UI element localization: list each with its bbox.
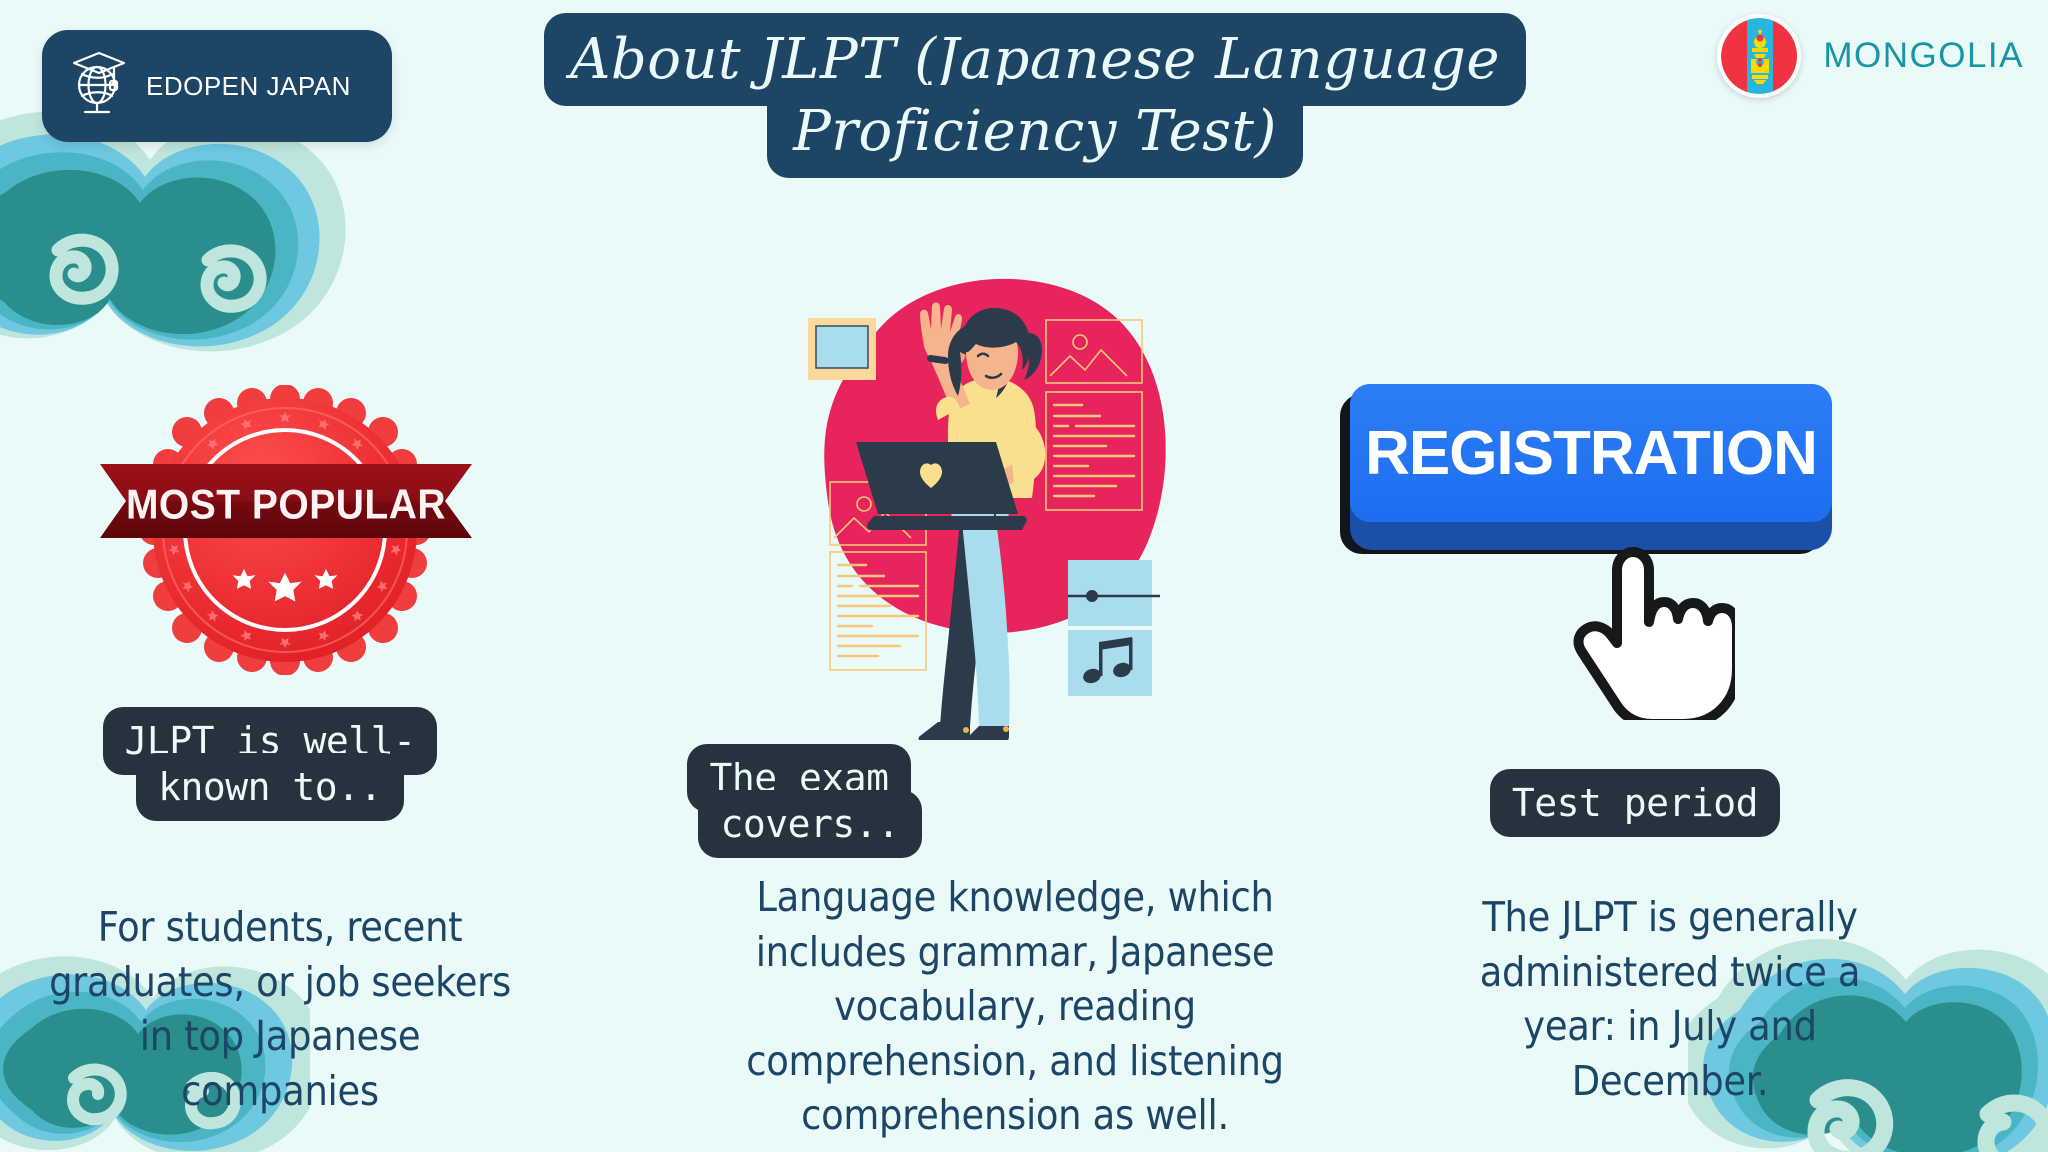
country-indicator: MONGOLIA — [1717, 14, 2024, 98]
middle-label-badge: The exam covers.. — [600, 755, 1020, 848]
country-name: MONGOLIA — [1823, 36, 2024, 76]
wave-decoration-top-left — [0, 110, 360, 414]
registration-button-label: REGISTRATION — [1365, 418, 1817, 489]
mongolia-flag-icon — [1717, 14, 1801, 98]
woman-with-laptop-illustration — [800, 260, 1180, 740]
left-label-badge: JLPT is well-known to.. — [60, 718, 480, 811]
brand-name: EDOPEN JAPAN — [146, 71, 351, 102]
pointing-hand-cursor — [1555, 500, 1735, 724]
middle-label-text: The exam covers.. — [687, 744, 921, 858]
graduation-globe-icon — [68, 49, 130, 123]
brand-logo-pill[interactable]: EDOPEN JAPAN — [42, 30, 392, 142]
right-label-text: Test period — [1490, 769, 1780, 837]
most-popular-ribbon: MOST POPULAR — [100, 460, 470, 546]
left-body-text: For students, recent graduates, or job s… — [45, 900, 515, 1118]
page-title-text: About JLPT (Japanese Language Proficienc… — [544, 13, 1526, 178]
page-title: About JLPT (Japanese Language Proficienc… — [445, 24, 1625, 167]
left-label-text: JLPT is well-known to.. — [103, 707, 438, 821]
middle-body-text: Language knowledge, which includes gramm… — [700, 870, 1330, 1143]
most-popular-ribbon-text: MOST POPULAR — [126, 481, 446, 527]
right-label-badge: Test period — [1430, 780, 1840, 826]
infographic-canvas: EDOPEN JAPAN About JLPT (Japanese Langua… — [0, 0, 2048, 1152]
right-body-text: The JLPT is generally administered twice… — [1455, 890, 1885, 1108]
